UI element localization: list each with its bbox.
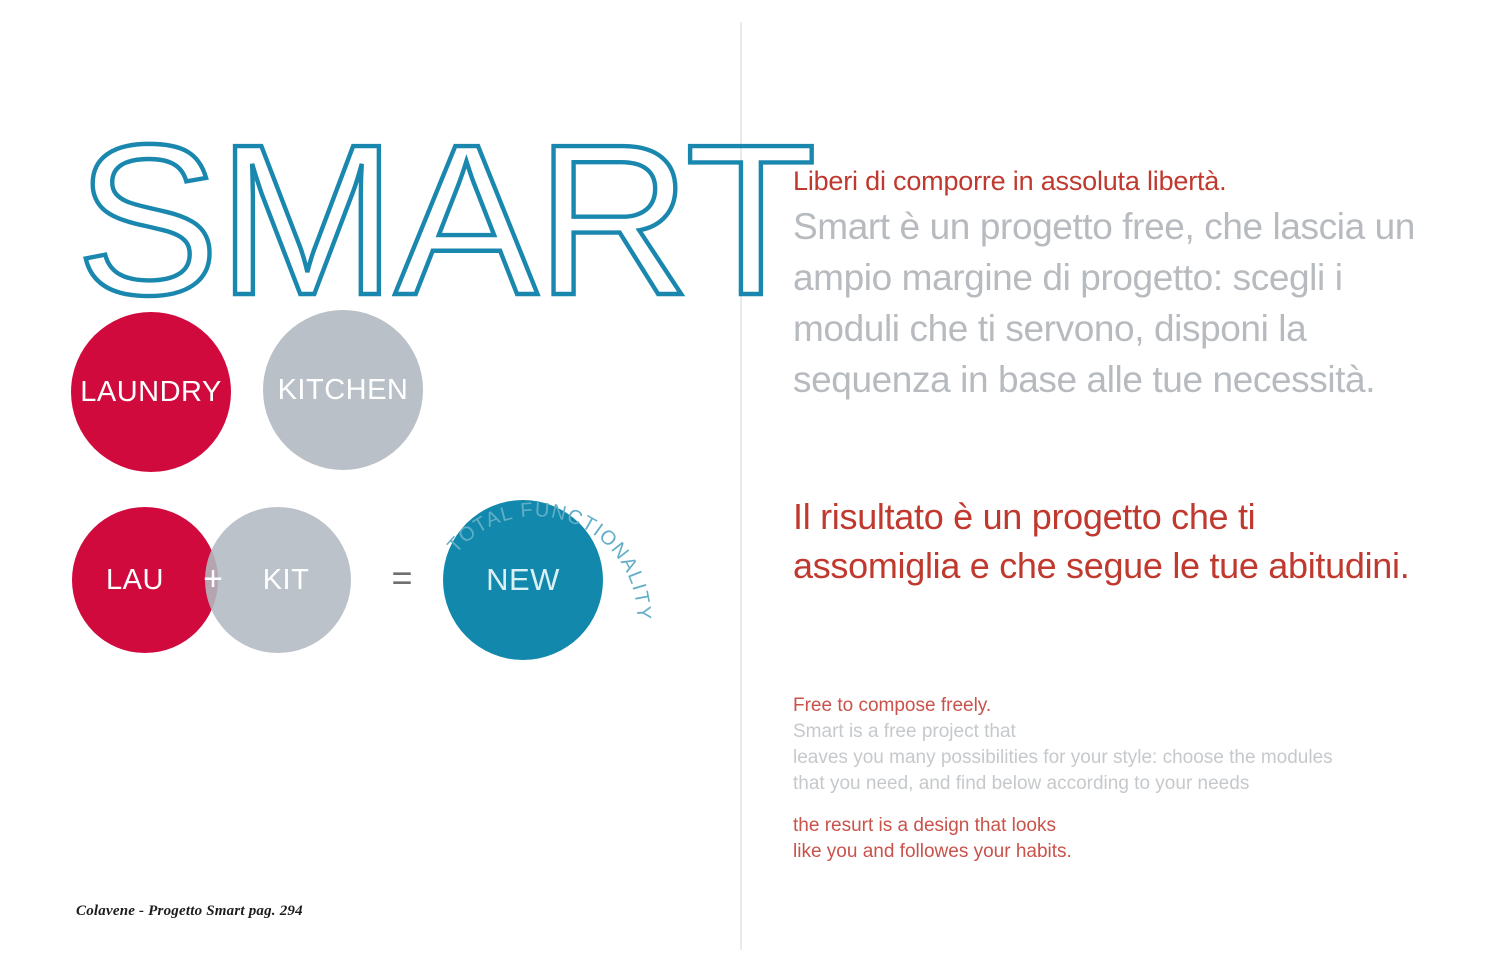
circle-lau: LAU xyxy=(72,507,218,653)
page-root: SMART LAUNDRY KITCHEN LAU KIT + = NEW xyxy=(0,0,1485,968)
circle-kitchen-label: KITCHEN xyxy=(278,374,409,407)
circle-kitchen: KITCHEN xyxy=(263,310,423,470)
english-block: Free to compose freely. Smart is a free … xyxy=(793,693,1433,865)
english-tail-block: the resurt is a design that looks like y… xyxy=(793,813,1433,865)
footer-credit: Colavene - Progetto Smart pag. 294 xyxy=(76,903,303,920)
circle-new: NEW xyxy=(443,500,603,660)
lede-red-line: Liberi di comporre in assoluta libertà. xyxy=(793,163,1418,199)
circle-kit-label: KIT xyxy=(263,564,310,597)
english-headline: Free to compose freely. xyxy=(793,693,1433,719)
circle-laundry-label: LAUNDRY xyxy=(80,376,222,409)
lede-gray-paragraph: Smart è un progetto free, che lascia un … xyxy=(793,201,1418,405)
plus-icon: + xyxy=(200,558,226,600)
smart-wordmark-text: SMART xyxy=(76,99,815,340)
headline-red: Il risultato è un progetto che ti assomi… xyxy=(793,492,1418,590)
english-tail-line-2: like you and followes your habits. xyxy=(793,839,1433,865)
english-tail-line-1: the resurt is a design that looks xyxy=(793,813,1433,839)
english-gray-line-3: that you need, and find below according … xyxy=(793,771,1433,797)
circle-laundry: LAUNDRY xyxy=(71,312,231,472)
english-gray-line-1: Smart is a free project that xyxy=(793,719,1433,745)
column-divider xyxy=(740,22,742,950)
smart-wordmark: SMART xyxy=(76,126,776,326)
circle-lau-label: LAU xyxy=(106,564,164,597)
english-gray-line-2: leaves you many possibilities for your s… xyxy=(793,745,1433,771)
lede-block: Liberi di comporre in assoluta libertà. … xyxy=(793,163,1418,405)
circle-new-label: NEW xyxy=(486,562,560,598)
equals-icon: = xyxy=(382,558,422,600)
circle-kit: KIT xyxy=(205,507,351,653)
